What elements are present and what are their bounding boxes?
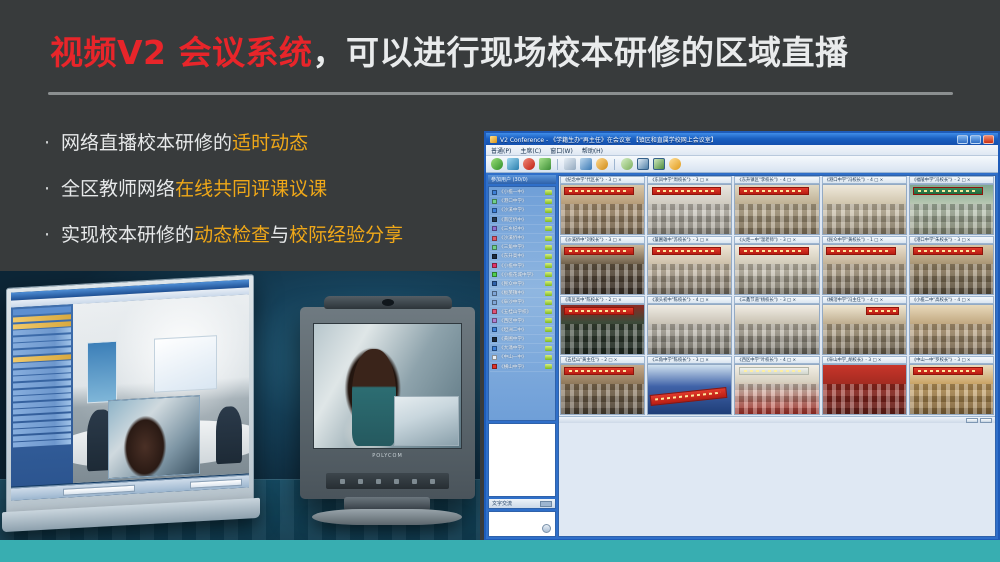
classroom-banner xyxy=(564,247,634,255)
chat-options-icon[interactable] xyxy=(540,501,552,507)
list-item[interactable]: 《南区侨中》 xyxy=(490,216,554,225)
video-cell[interactable] xyxy=(909,364,994,415)
list-item[interactable]: 《黄圃中学》 xyxy=(490,335,554,344)
seated-person xyxy=(216,406,242,465)
video-caption-text: 《浪头初中"陈校长"》- 4 □ × xyxy=(650,297,709,303)
video-caption-text: 《五桂山"黄主任"》- 2 □ × xyxy=(563,357,617,363)
video-cell[interactable] xyxy=(647,184,732,235)
list-item[interactable]: 《板芙镇中》 xyxy=(490,289,554,298)
audio-level-icon xyxy=(545,337,552,342)
audio-level-icon xyxy=(545,236,552,241)
settings-icon[interactable] xyxy=(669,158,681,170)
audio-level-icon xyxy=(545,309,552,314)
list-item[interactable]: 《横山中学》 xyxy=(490,363,554,372)
status-square-icon xyxy=(492,309,497,314)
video-cell-row xyxy=(559,304,995,356)
list-item[interactable]: 《沙溪中学》 xyxy=(490,206,554,215)
bullet-text-emphasis: 在线共同评课议课 xyxy=(175,178,327,200)
chat-messages-area[interactable] xyxy=(488,423,556,497)
page-title-highlight: 视频V2 会议系统 xyxy=(50,33,313,72)
video-caption-text: 《中山一中"罗校长"》- 3 □ × xyxy=(912,357,971,363)
toolbar-separator xyxy=(614,159,615,170)
video-caption[interactable]: 《浪头初中"陈校长"》- 4 □ × xyxy=(647,296,732,304)
app-icon xyxy=(490,136,497,143)
status-square-icon xyxy=(492,281,497,286)
title-divider xyxy=(48,92,953,95)
video-caption-text: 《福陵中学"冯校长"》- 2 □ × xyxy=(912,177,971,183)
video-grid: 《纪念中学"代区长"》- 3 □ × 《东凤中学"周校长"》- 3 □ × 《东… xyxy=(558,175,996,537)
person-on-screen xyxy=(352,349,396,446)
participant-name: 《五桂山学校》 xyxy=(499,309,543,315)
classroom-banner xyxy=(913,367,983,375)
audience-seats xyxy=(823,384,906,414)
audience-seats xyxy=(561,324,644,354)
video-caption[interactable]: 《民众中学"黄校长"》- 1 □ × xyxy=(822,236,907,244)
audience-seats xyxy=(735,384,818,414)
audience-seats xyxy=(910,204,993,234)
classroom-banner xyxy=(739,187,809,195)
video-caption[interactable]: 《港口中学"冯校长"》- 4 □ × xyxy=(822,176,907,184)
list-item[interactable]: 《民众中学》 xyxy=(490,280,554,289)
classroom-banner xyxy=(564,187,634,195)
video-caption[interactable]: 《港口中学"朱校长"》- 3 □ × xyxy=(909,236,994,244)
status-square-icon xyxy=(492,337,497,342)
status-square-icon xyxy=(492,254,497,259)
video-caption-text: 《火炬一中"温老师"》- 3 □ × xyxy=(737,237,796,243)
video-cell[interactable] xyxy=(647,304,732,355)
status-square-icon xyxy=(492,272,497,277)
video-caption[interactable]: 《东凤中学"周校长"》- 3 □ × xyxy=(647,176,732,184)
bullet-text-plain: 实现校本研修的 xyxy=(61,224,194,246)
classroom-banner xyxy=(826,247,896,255)
laptop-participant-panel xyxy=(11,304,73,486)
audio-level-icon xyxy=(545,245,552,250)
video-cell[interactable] xyxy=(822,364,907,415)
video-caption[interactable]: 《三角中学"陈校长"》- 3 □ × xyxy=(647,356,732,364)
video-cell[interactable] xyxy=(734,304,819,355)
bullet-text: 实现校本研修的动态检查与校际经验分享 xyxy=(61,224,403,248)
page-title: 视频V2 会议系统，可以进行现场校本研修的区域直播 xyxy=(50,26,849,74)
bullet-text-plain: 全区教师网络 xyxy=(61,178,175,200)
video-cell[interactable] xyxy=(822,244,907,295)
monitor-pip xyxy=(394,396,459,446)
video-caption[interactable]: 《南区高中"陈校长"》- 2 □ × xyxy=(560,296,645,304)
polycom-monitor: POLYCOM xyxy=(300,307,475,499)
wall-poster xyxy=(87,341,117,404)
menu-item-common[interactable]: 普通(P) xyxy=(491,146,511,155)
participant-name: 《小榄花城中学》 xyxy=(499,272,543,278)
audio-level-icon xyxy=(545,254,552,259)
video-caption[interactable]: 《中山一中"罗校长"》- 3 □ × xyxy=(909,356,994,364)
classroom-banner xyxy=(652,247,722,255)
bullet-list: · 网络直播校本研修的适时动态 · 全区教师网络在线共同评课议课 · 实现校本研… xyxy=(44,132,484,269)
classroom-banner xyxy=(913,187,983,195)
participants-sidebar: 参加用户 (30/0) 《小榄一中》 《港口中学》 《沙溪中学》 《南区侨中》 … xyxy=(488,175,556,537)
laptop-app-body xyxy=(11,294,249,486)
bullet-text-emphasis2: 校际经验分享 xyxy=(289,224,403,246)
video-caption[interactable]: 《火炬一中"温老师"》- 3 □ × xyxy=(734,236,819,244)
list-item[interactable]: 《小榄中学》 xyxy=(490,262,554,271)
list-item[interactable]: 《小榄花城中学》 xyxy=(490,271,554,280)
audience-seats xyxy=(648,324,731,354)
audience-seats xyxy=(561,264,644,294)
list-item: · 实现校本研修的动态检查与校际经验分享 xyxy=(44,224,484,248)
bullet-marker: · xyxy=(44,132,50,156)
video-caption-text: 《东凤中学"周校长"》- 3 □ × xyxy=(650,177,709,183)
list-item: · 全区教师网络在线共同评课议课 xyxy=(44,178,484,202)
list-item[interactable]: 《港口中学》 xyxy=(490,197,554,206)
bullet-text-emphasis: 适时动态 xyxy=(232,132,308,154)
classroom-banner xyxy=(564,367,634,375)
audience-seats xyxy=(735,264,818,294)
send-icon[interactable] xyxy=(542,524,551,533)
audience-seats xyxy=(910,324,993,354)
video-cell[interactable] xyxy=(822,184,907,235)
video-cell[interactable] xyxy=(560,244,645,295)
bullet-marker: · xyxy=(44,224,50,248)
status-field xyxy=(63,485,134,496)
video-caption-row: 《五桂山"黄主任"》- 2 □ × 《三角中学"陈校长"》- 3 □ × 《西区… xyxy=(559,356,995,364)
participant-name: 《沙溪侨中》 xyxy=(499,235,543,241)
conference-camera-icon xyxy=(324,296,452,309)
participant-name: 《阜沙中学》 xyxy=(499,299,543,305)
audience-seats xyxy=(648,204,731,234)
video-caption-text: 《民众中学"黄校长"》- 1 □ × xyxy=(825,237,884,243)
video-caption[interactable]: 《横滘中学"冯主任"》- 4 □ × xyxy=(822,296,907,304)
participant-name: 《板芙镇中》 xyxy=(499,290,543,296)
video-caption-text: 《港口中学"朱校长"》- 3 □ × xyxy=(912,237,971,243)
video-caption[interactable]: 《篁圃雄中"苏校长"》- 3 □ × xyxy=(647,236,732,244)
audience-seats xyxy=(910,264,993,294)
list-item[interactable]: 《三乡纪中》 xyxy=(490,225,554,234)
chat-toolbar: 文字交流 xyxy=(488,499,556,509)
participant-name: 《东升高中》 xyxy=(499,253,543,259)
video-cell[interactable] xyxy=(909,304,994,355)
video-cell[interactable] xyxy=(909,184,994,235)
classroom-banner xyxy=(866,307,899,315)
scroll-right-button[interactable] xyxy=(980,418,992,423)
monitor-brand-label: POLYCOM xyxy=(300,453,475,459)
monitor-key[interactable] xyxy=(394,479,399,484)
list-item[interactable]: 《中山一中》 xyxy=(490,353,554,362)
list-item[interactable]: 《大涌中学》 xyxy=(490,344,554,353)
audience-seats xyxy=(561,204,644,234)
scroll-left-button[interactable] xyxy=(966,418,978,423)
bullet-marker: · xyxy=(44,178,50,202)
classroom-banner xyxy=(739,247,809,255)
participant-name: 《三角中学》 xyxy=(499,244,543,250)
video-caption-row: 《南区高中"陈校长"》- 2 □ × 《浪头初中"陈校长"》- 4 □ × 《三… xyxy=(559,296,995,304)
list-item[interactable]: 《坦洲二中》 xyxy=(490,326,554,335)
audio-level-icon xyxy=(545,300,552,305)
audience-seats xyxy=(910,384,993,414)
window-title: V2 Conference - 《学籍生办"再主任》在会议室 【镇区和直属学校网… xyxy=(500,135,957,144)
participant-name: 《民众中学》 xyxy=(499,281,543,287)
video-cell[interactable] xyxy=(647,364,732,415)
laptop-participant-row xyxy=(13,440,71,448)
video-caption-text: 《三角中学"陈校长"》- 3 □ × xyxy=(650,357,709,363)
list-item[interactable]: 《西区中学》 xyxy=(490,317,554,326)
split-icon[interactable] xyxy=(564,158,576,170)
audio-level-icon xyxy=(545,291,552,296)
video-cell[interactable] xyxy=(560,184,645,235)
monitor-key[interactable] xyxy=(430,479,435,484)
audience-seats xyxy=(561,384,644,414)
video-caption-text: 《横滘中学"冯主任"》- 4 □ × xyxy=(825,297,884,303)
list-item: · 网络直播校本研修的适时动态 xyxy=(44,132,484,156)
video-cell-row xyxy=(559,364,995,416)
right-photo-v2-conference: V2 Conference - 《学籍生办"再主任》在会议室 【镇区和直属学校网… xyxy=(484,131,1000,541)
audio-level-icon xyxy=(545,281,552,286)
menu-item-help[interactable]: 帮助(H) xyxy=(582,146,603,155)
laptop-video-area xyxy=(73,294,249,483)
video-caption-row: 《纪念中学"代区长"》- 3 □ × 《东凤中学"周校长"》- 3 □ × 《东… xyxy=(559,176,995,184)
video-caption-text: 《阜山中学_胡校长》- 3 □ × xyxy=(825,357,882,363)
participants-list[interactable]: 《小榄一中》 《港口中学》 《沙溪中学》 《南区侨中》 《三乡纪中》 《沙溪侨中… xyxy=(488,186,556,421)
participant-name: 《横山中学》 xyxy=(499,364,543,370)
list-item[interactable]: 《阜沙中学》 xyxy=(490,298,554,307)
participants-header: 参加用户 (30/0) xyxy=(488,175,556,184)
chat-label: 文字交流 xyxy=(492,500,512,507)
record-icon[interactable] xyxy=(491,158,503,170)
video-cell[interactable] xyxy=(560,304,645,355)
video-caption[interactable]: 《纪念中学"代区长"》- 3 □ × xyxy=(560,176,645,184)
video-grid-row: 《沙溪侨中"刘校长"》- 3 □ × 《篁圃雄中"苏校长"》- 3 □ × 《火… xyxy=(559,236,995,296)
video-caption-text: 《南区高中"陈校长"》- 2 □ × xyxy=(563,297,622,303)
video-cell[interactable] xyxy=(734,184,819,235)
monitor-key[interactable] xyxy=(376,479,381,484)
status-square-icon xyxy=(492,291,497,296)
participant-name: 《沙溪中学》 xyxy=(499,207,543,213)
classroom-banner xyxy=(739,367,809,375)
chat-input[interactable] xyxy=(488,511,556,537)
stop-icon[interactable] xyxy=(523,158,535,170)
status-square-icon xyxy=(492,245,497,250)
video-cell-row xyxy=(559,244,995,296)
audio-level-icon xyxy=(545,208,552,213)
status-square-icon xyxy=(492,318,497,323)
video-caption[interactable]: 《三鑫节道"杨校长"》- 3 □ × xyxy=(734,296,819,304)
status-square-icon xyxy=(492,327,497,332)
video-caption[interactable]: 《沙溪侨中"刘校长"》- 3 □ × xyxy=(560,236,645,244)
video-caption-text: 《沙溪侨中"刘校长"》- 3 □ × xyxy=(563,237,622,243)
maximize-button[interactable] xyxy=(970,135,981,144)
video-cell[interactable] xyxy=(909,244,994,295)
audio-level-icon xyxy=(545,318,552,323)
page-title-rest: ，可以进行现场校本研修的区域直播 xyxy=(313,33,849,72)
audio-level-icon xyxy=(545,263,552,268)
audio-level-icon xyxy=(545,327,552,332)
video-grid-row: 《纪念中学"代区长"》- 3 □ × 《东凤中学"周校长"》- 3 □ × 《东… xyxy=(559,176,995,236)
video-cell-row xyxy=(559,184,995,236)
video-caption[interactable]: 《阜山中学_胡校长》- 3 □ × xyxy=(822,356,907,364)
pip-video-image xyxy=(109,396,199,478)
monitor-key[interactable] xyxy=(358,479,363,484)
video-cell[interactable] xyxy=(822,304,907,355)
status-square-icon xyxy=(492,217,497,222)
participant-name: 《小榄中学》 xyxy=(499,263,543,269)
menu-item-chair[interactable]: 主席(C) xyxy=(520,146,541,155)
video-caption[interactable]: 《东升镇区"李校长"》- 4 □ × xyxy=(734,176,819,184)
audience-seats xyxy=(735,324,818,354)
video-caption[interactable]: 《五桂山"黄主任"》- 2 □ × xyxy=(560,356,645,364)
footer-bar xyxy=(0,540,1000,562)
list-item[interactable]: 《五桂山学校》 xyxy=(490,307,554,316)
status-square-icon xyxy=(492,346,497,351)
monitor-screen xyxy=(313,323,462,449)
window-titlebar: V2 Conference - 《学籍生办"再主任》在会议室 【镇区和直属学校网… xyxy=(486,133,998,145)
audio-level-icon xyxy=(545,364,552,369)
video-caption-row: 《沙溪侨中"刘校长"》- 3 □ × 《篁圃雄中"苏校长"》- 3 □ × 《火… xyxy=(559,236,995,244)
audience-seats xyxy=(823,264,906,294)
close-icon[interactable] xyxy=(983,135,994,144)
bullet-text-plain: 网络直播校本研修的 xyxy=(61,132,232,154)
video-caption-text: 《篁圃雄中"苏校长"》- 3 □ × xyxy=(650,237,709,243)
toolbar xyxy=(486,156,998,173)
video-grid-row: 《五桂山"黄主任"》- 2 □ × 《三角中学"陈校长"》- 3 □ × 《西区… xyxy=(559,356,995,416)
list-item[interactable]: 《小榄一中》 xyxy=(490,188,554,197)
video-grid-row: 《南区高中"陈校长"》- 2 □ × 《浪头初中"陈校长"》- 4 □ × 《三… xyxy=(559,296,995,356)
classroom-banner xyxy=(913,247,983,255)
audio-level-icon xyxy=(545,346,552,351)
laptop-device xyxy=(6,274,254,516)
audio-level-icon xyxy=(545,226,552,231)
video-cell[interactable] xyxy=(734,244,819,295)
status-square-icon xyxy=(492,364,497,369)
video-caption-text: 《港口中学"冯校长"》- 4 □ × xyxy=(825,177,884,183)
laptop-screen xyxy=(11,279,249,500)
audio-level-icon xyxy=(545,199,552,204)
list-item[interactable]: 《东升高中》 xyxy=(490,252,554,261)
bullet-text: 网络直播校本研修的适时动态 xyxy=(61,132,308,156)
status-square-icon xyxy=(492,355,497,360)
camera-icon[interactable] xyxy=(580,158,592,170)
participant-name: 《黄圃中学》 xyxy=(499,336,543,342)
classroom-banner xyxy=(652,187,722,195)
menu-bar: 普通(P) 主席(C) 窗口(W) 帮助(H) xyxy=(486,145,998,156)
toolbar-separator xyxy=(557,159,558,170)
audio-level-icon xyxy=(545,217,552,222)
status-square-icon xyxy=(492,190,497,195)
audio-level-icon xyxy=(545,272,552,277)
status-square-icon xyxy=(492,263,497,268)
audience-seats xyxy=(648,264,731,294)
video-caption-text: 《西区中学"叶校长"》- 4 □ × xyxy=(737,357,796,363)
window-body: 参加用户 (30/0) 《小榄一中》 《港口中学》 《沙溪中学》 《南区侨中》 … xyxy=(486,173,998,539)
video-caption-text: 《三鑫节道"杨校长"》- 3 □ × xyxy=(737,297,796,303)
video-cell[interactable] xyxy=(560,364,645,415)
monitor-key[interactable] xyxy=(412,479,417,484)
participant-name: 《小榄一中》 xyxy=(499,189,543,195)
bullet-text-emphasis: 动态检查 xyxy=(194,224,270,246)
status-square-icon xyxy=(492,208,497,213)
window-controls xyxy=(957,135,996,144)
participant-name: 《大涌中学》 xyxy=(499,345,543,351)
snapshot-icon[interactable] xyxy=(637,158,649,170)
list-item[interactable]: 《三角中学》 xyxy=(490,243,554,252)
link-icon[interactable] xyxy=(621,158,633,170)
broadcast-icon[interactable] xyxy=(507,158,519,170)
menu-item-window[interactable]: 窗口(W) xyxy=(550,146,573,155)
classroom-banner xyxy=(564,307,634,315)
horizontal-scrollbar[interactable] xyxy=(559,416,995,423)
participant-name: 《三乡纪中》 xyxy=(499,226,543,232)
video-caption-text: 《纪念中学"代区长"》- 3 □ × xyxy=(563,177,622,183)
status-square-icon xyxy=(492,226,497,231)
bullet-text: 全区教师网络在线共同评课议课 xyxy=(61,178,327,202)
video-cell[interactable] xyxy=(647,244,732,295)
video-caption-text: 《东升镇区"李校长"》- 4 □ × xyxy=(737,177,796,183)
participant-name: 《南区侨中》 xyxy=(499,217,543,223)
minimize-button[interactable] xyxy=(957,135,968,144)
video-caption-text: 《小榄二中"高校长"》- 4 □ × xyxy=(912,297,971,303)
list-item[interactable]: 《沙溪侨中》 xyxy=(490,234,554,243)
layout-icon[interactable] xyxy=(539,158,551,170)
monitor-key[interactable] xyxy=(340,479,345,484)
audio-level-icon xyxy=(545,355,552,360)
classroom-banner xyxy=(650,387,727,406)
participant-name: 《港口中学》 xyxy=(499,198,543,204)
status-square-icon xyxy=(492,300,497,305)
monitor-stand-base xyxy=(312,509,462,525)
bullet-text-plain2: 与 xyxy=(270,224,289,246)
video-caption[interactable]: 《福陵中学"冯校长"》- 2 □ × xyxy=(909,176,994,184)
status-field xyxy=(190,479,242,489)
video-cell[interactable] xyxy=(734,364,819,415)
audience-seats xyxy=(823,204,906,234)
video-caption[interactable]: 《西区中学"叶校长"》- 4 □ × xyxy=(734,356,819,364)
participant-name: 《坦洲二中》 xyxy=(499,327,543,333)
mic-icon[interactable] xyxy=(596,158,608,170)
video-caption[interactable]: 《小榄二中"高校长"》- 4 □ × xyxy=(909,296,994,304)
status-square-icon xyxy=(492,236,497,241)
left-photo-laptop-and-monitor: POLYCOM 数字视听网 itavcn.com xyxy=(0,271,480,541)
share-icon[interactable] xyxy=(653,158,665,170)
participant-name: 《中山一中》 xyxy=(499,354,543,360)
projection-screen xyxy=(154,335,217,392)
status-square-icon xyxy=(492,199,497,204)
v2-conference-window: V2 Conference - 《学籍生办"再主任》在会议室 【镇区和直属学校网… xyxy=(484,131,1000,541)
audience-seats xyxy=(735,204,818,234)
participant-name: 《西区中学》 xyxy=(499,318,543,324)
monitor-buttons xyxy=(326,473,449,489)
picture-in-picture-video xyxy=(108,395,200,479)
audience-seats xyxy=(823,324,906,354)
audio-level-icon xyxy=(545,190,552,195)
